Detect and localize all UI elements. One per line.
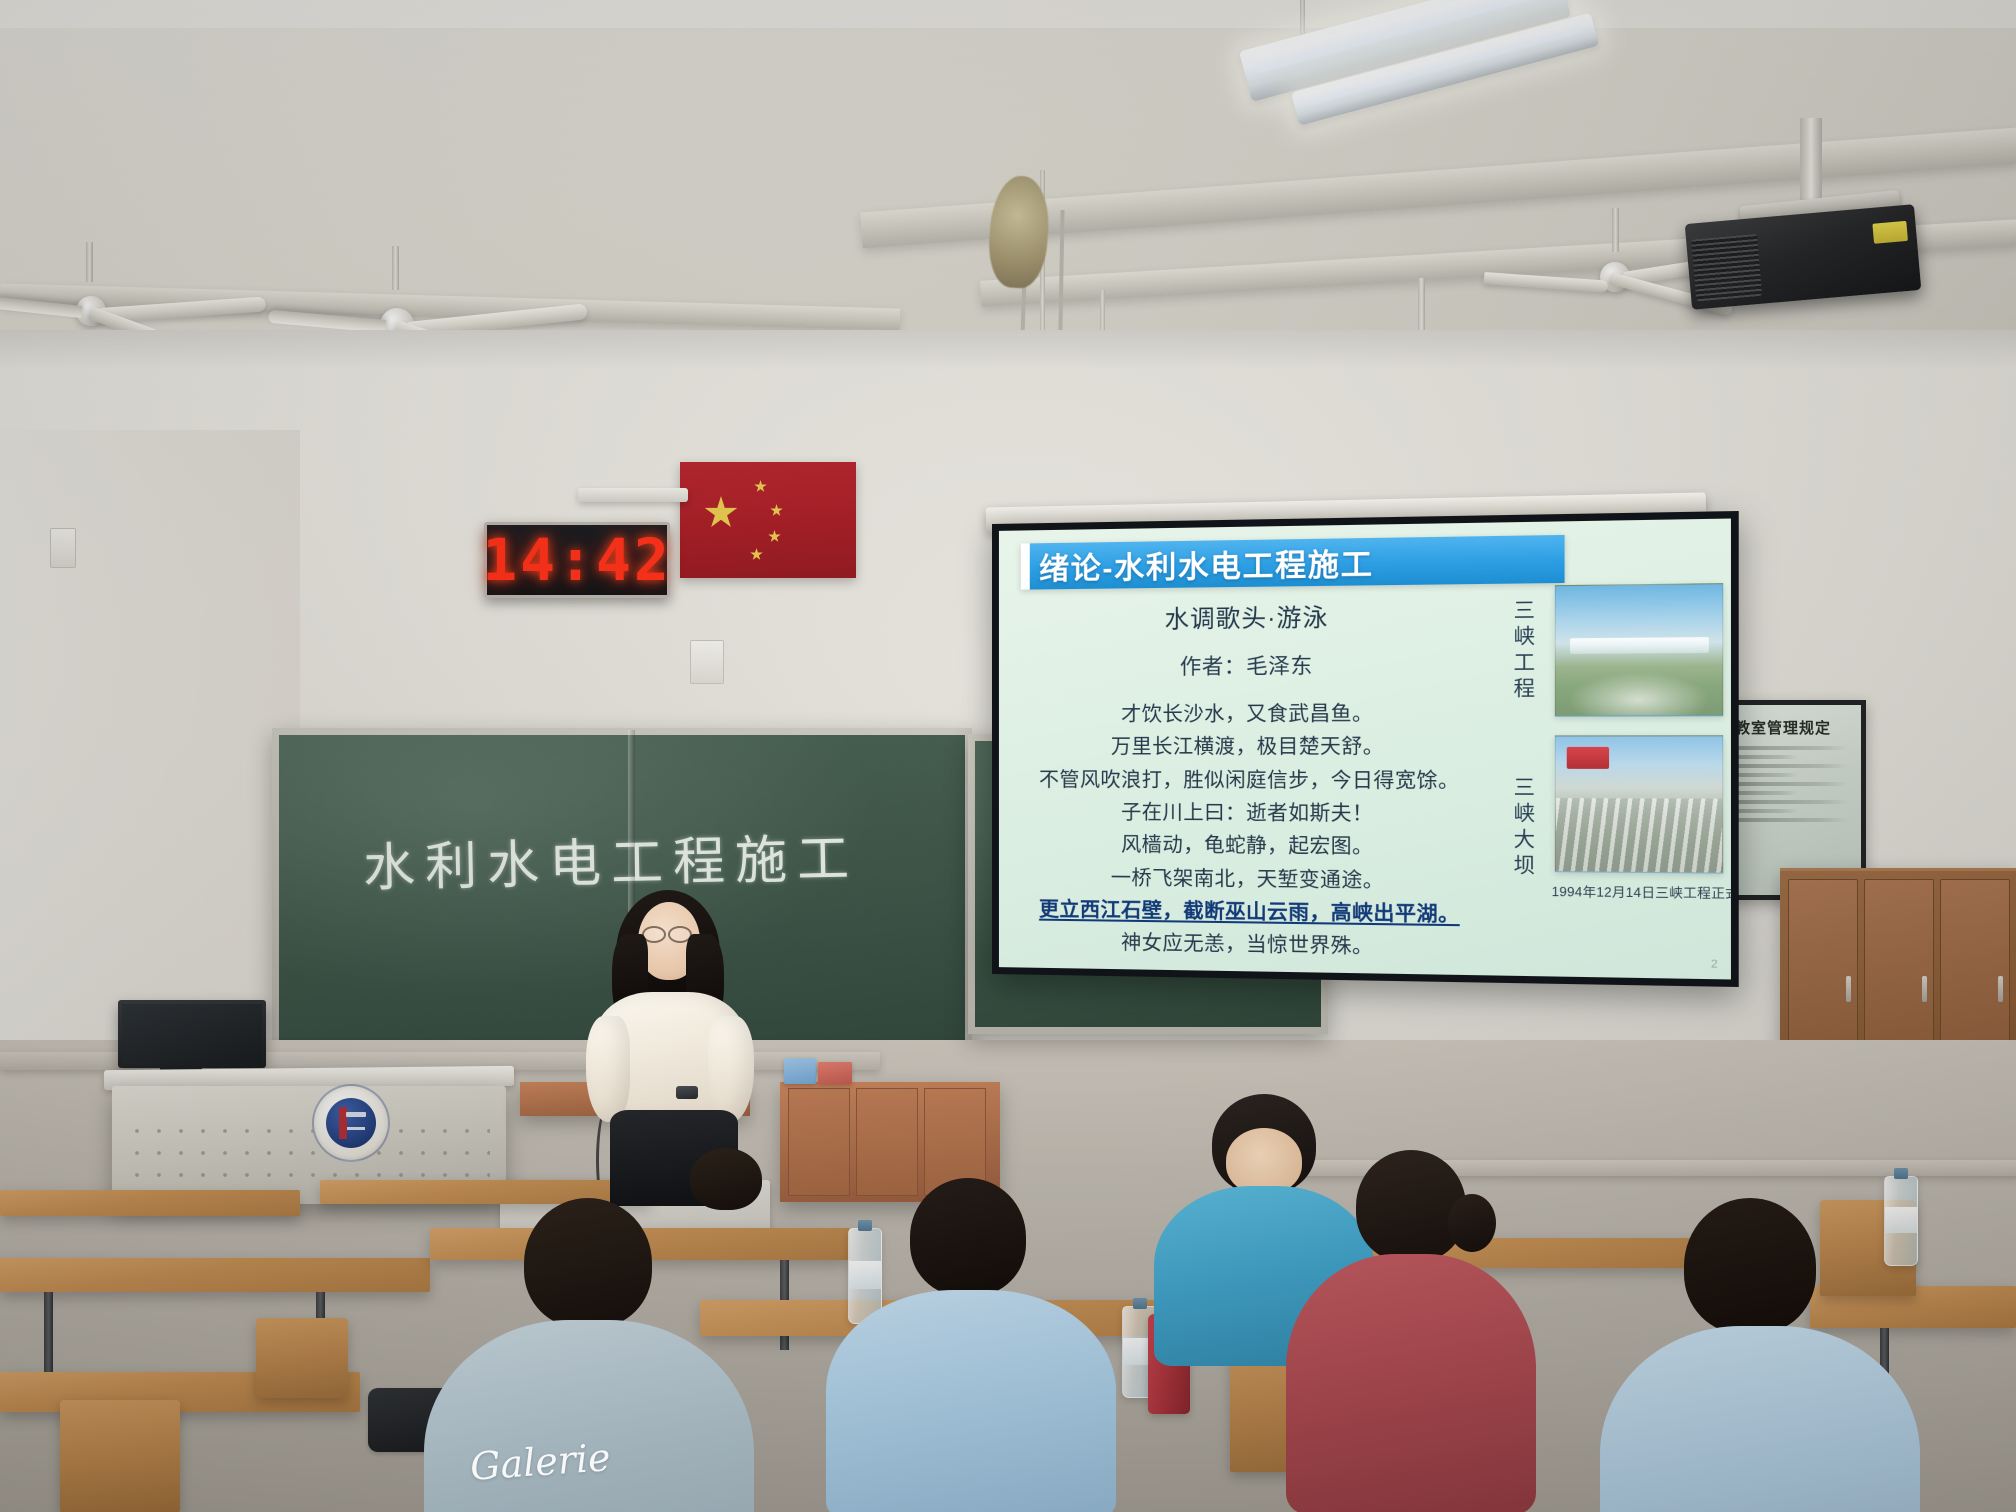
locker-handle[interactable] (1922, 976, 1927, 1002)
desk-panel (856, 1088, 918, 1196)
audience-hair (524, 1198, 652, 1328)
slide-vertical-label-bottom: 三峡大坝 (1507, 776, 1538, 880)
clock-time-display: 14:42 (482, 526, 672, 594)
poem-line: 神女应无恙，当惊世界殊。 (1013, 926, 1488, 966)
university-crest-icon (312, 1084, 390, 1162)
slide-title-accent-bar (1021, 543, 1030, 589)
slide-vertical-label-top: 三峡工程 (1507, 599, 1538, 703)
slide-photo-three-gorges-dam (1555, 735, 1723, 873)
poem-author: 作者：毛泽东 (1013, 648, 1488, 682)
crest-inner-mark (326, 1098, 376, 1148)
audience-hair (1356, 1150, 1466, 1262)
flag-star-large-icon (704, 496, 738, 530)
bottle-label (1885, 1207, 1917, 1233)
student-chair[interactable] (60, 1400, 180, 1512)
presentation-slide: 绪论-水利水电工程施工 水调歌头·游泳 作者：毛泽东 才饮长沙水，又食武昌鱼。 … (999, 519, 1731, 980)
bottle-label (849, 1261, 881, 1289)
slide-photo-caption: 1994年12月14日三峡工程正式开工建设 (1552, 881, 1731, 904)
wall-outlet-plate[interactable] (50, 528, 76, 568)
podium-monitor[interactable] (118, 1000, 266, 1068)
projector-vent (1691, 234, 1762, 302)
projector-warning-label (1872, 221, 1908, 244)
audience-hair (690, 1148, 762, 1210)
student-desk-row3-left (0, 1190, 300, 1216)
locker-handle[interactable] (1846, 976, 1851, 1002)
lecturer-arm-left (586, 1016, 630, 1122)
fan-drop-rod (392, 246, 399, 290)
fan-blade (1484, 272, 1609, 293)
ceiling-band (0, 0, 2016, 28)
desk-panel (788, 1088, 850, 1196)
fan-drop-rod (86, 242, 93, 282)
slide-photo-three-gorges-project (1555, 583, 1723, 717)
poem-line: 才饮长沙水，又食武昌鱼。 (1013, 697, 1488, 731)
fan-drop-rod (1418, 278, 1425, 334)
lamp-rod (1100, 290, 1105, 334)
classroom-photo: 14:42 教室管理规定 水利水 (0, 0, 2016, 1512)
audience-hair (910, 1178, 1026, 1296)
student-chair[interactable] (256, 1318, 348, 1398)
audience-ponytail (1448, 1194, 1496, 1252)
audience-shirt-lightblue (826, 1290, 1116, 1512)
flag-star-small-icon (750, 548, 763, 561)
desk-box-red[interactable] (818, 1062, 852, 1084)
lecturer (572, 880, 772, 1180)
flag-star-small-icon (770, 504, 783, 517)
lecturer-arm-right (708, 1016, 754, 1122)
poem-line: 不管风吹浪打，胜似闲庭信步，今日得宽馀。 (1013, 764, 1488, 798)
audience-jacket-maroon (1286, 1254, 1536, 1512)
wall-switch-plate[interactable] (690, 640, 724, 684)
poem-heading: 水调歌头·游泳 (1013, 595, 1488, 636)
desk-box-blue[interactable] (784, 1058, 816, 1084)
audience-neck (1226, 1128, 1302, 1194)
left-wall-panel (0, 430, 300, 1070)
projector-mount-pole (1800, 118, 1822, 202)
student-desk-row1-left (0, 1258, 430, 1292)
poem-line: 万里长江横渡，极目楚天舒。 (1013, 730, 1488, 764)
poem-line: 风樯动，龟蛇静，起宏图。 (1013, 828, 1488, 865)
clock-mount-bracket (578, 488, 688, 502)
wall-top-shadow (0, 330, 2016, 370)
audience-hair (1684, 1198, 1816, 1334)
slide-title-bar: 绪论-水利水电工程施工 (1021, 535, 1564, 589)
chinese-flag (680, 462, 856, 578)
locker-handle[interactable] (1998, 976, 2003, 1002)
fan-drop-rod (1612, 208, 1619, 252)
slide-poem-block: 水调歌头·游泳 作者：毛泽东 才饮长沙水，又食武昌鱼。 万里长江横渡，极目楚天舒… (1013, 595, 1488, 966)
flag-star-small-icon (768, 530, 781, 543)
slide-page-number: 2 (1711, 958, 1718, 971)
poem-line: 子在川上曰：逝者如斯夫！ (1013, 796, 1488, 831)
water-bottle[interactable] (1884, 1176, 1918, 1266)
presentation-clicker[interactable] (676, 1086, 698, 1099)
projection-screen: 绪论-水利水电工程施工 水调歌头·游泳 作者：毛泽东 才饮长沙水，又食武昌鱼。 … (992, 511, 1739, 987)
flag-star-small-icon (754, 480, 767, 493)
poem-line: 一桥飞架南北，天堑变通途。 (1013, 861, 1488, 899)
digital-clock: 14:42 (484, 522, 670, 598)
slide-title: 绪论-水利水电工程施工 (1039, 539, 1373, 588)
